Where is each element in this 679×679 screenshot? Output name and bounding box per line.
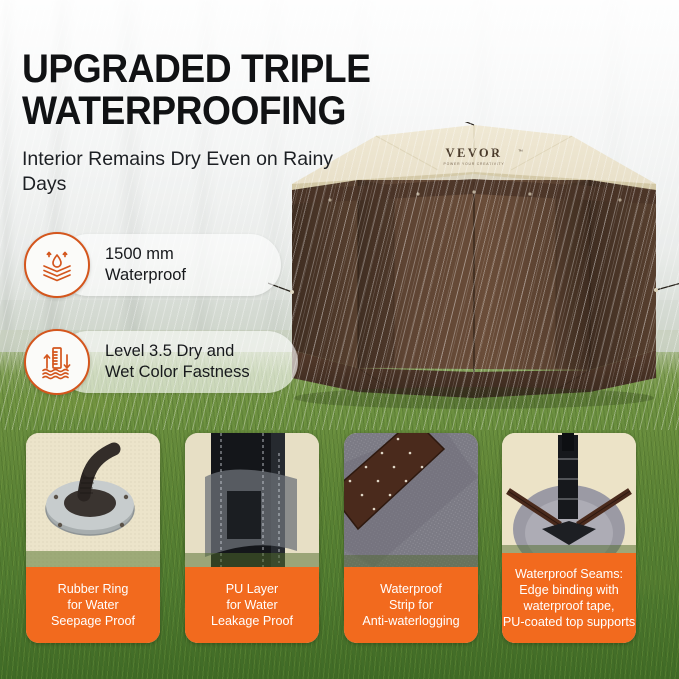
feature-badge-pill: Level 3.5 Dry and Wet Color Fastness (57, 331, 298, 393)
page-subtitle: Interior Remains Dry Even on Rainy Days (22, 147, 352, 197)
feature-card-caption: Waterproof Seams: Edge binding with wate… (502, 553, 636, 643)
pu-layer-seam-photo (185, 433, 319, 567)
feature-card-caption: PU Layer for Water Leakage Proof (185, 567, 319, 643)
rubber-ring-grommet-photo (26, 433, 160, 567)
feature-card-caption: Waterproof Strip for Anti-waterlogging (344, 567, 478, 643)
waterproof-layers-icon (24, 232, 90, 298)
feature-card-row: Rubber Ring for Water Seepage Proof PU L… (0, 433, 679, 645)
headline-line-1: UPGRADED TRIPLE (22, 47, 371, 91)
headline-line-2: WATERPROOFING (22, 90, 394, 132)
brand-logo-text: VEVOR (446, 146, 503, 160)
feature-badge-label: Level 3.5 Dry and Wet Color Fastness (105, 341, 250, 383)
brand-logo-subtext: POWER YOUR CREATIVITY (444, 162, 505, 166)
waterproof-seams-hub-photo (502, 433, 636, 553)
trademark-mark: ™ (518, 149, 523, 155)
feature-card[interactable]: PU Layer for Water Leakage Proof (185, 433, 319, 643)
feature-card[interactable]: Rubber Ring for Water Seepage Proof (26, 433, 160, 643)
feature-badge-label: 1500 mm Waterproof (105, 244, 186, 286)
page-title: UPGRADED TRIPLE WATERPROOFING (22, 48, 394, 132)
color-fastness-water-level-icon (24, 329, 90, 395)
feature-card[interactable]: Waterproof Seams: Edge binding with wate… (502, 433, 636, 643)
product-marketing-banner: VEVOR ™ POWER YOUR CREATIVITY UPGRADED T… (0, 0, 679, 679)
feature-card-caption: Rubber Ring for Water Seepage Proof (26, 567, 160, 643)
waterproof-strip-photo (344, 433, 478, 567)
feature-badge-pill: 1500 mm Waterproof (57, 234, 281, 296)
feature-card[interactable]: Waterproof Strip for Anti-waterlogging (344, 433, 478, 643)
